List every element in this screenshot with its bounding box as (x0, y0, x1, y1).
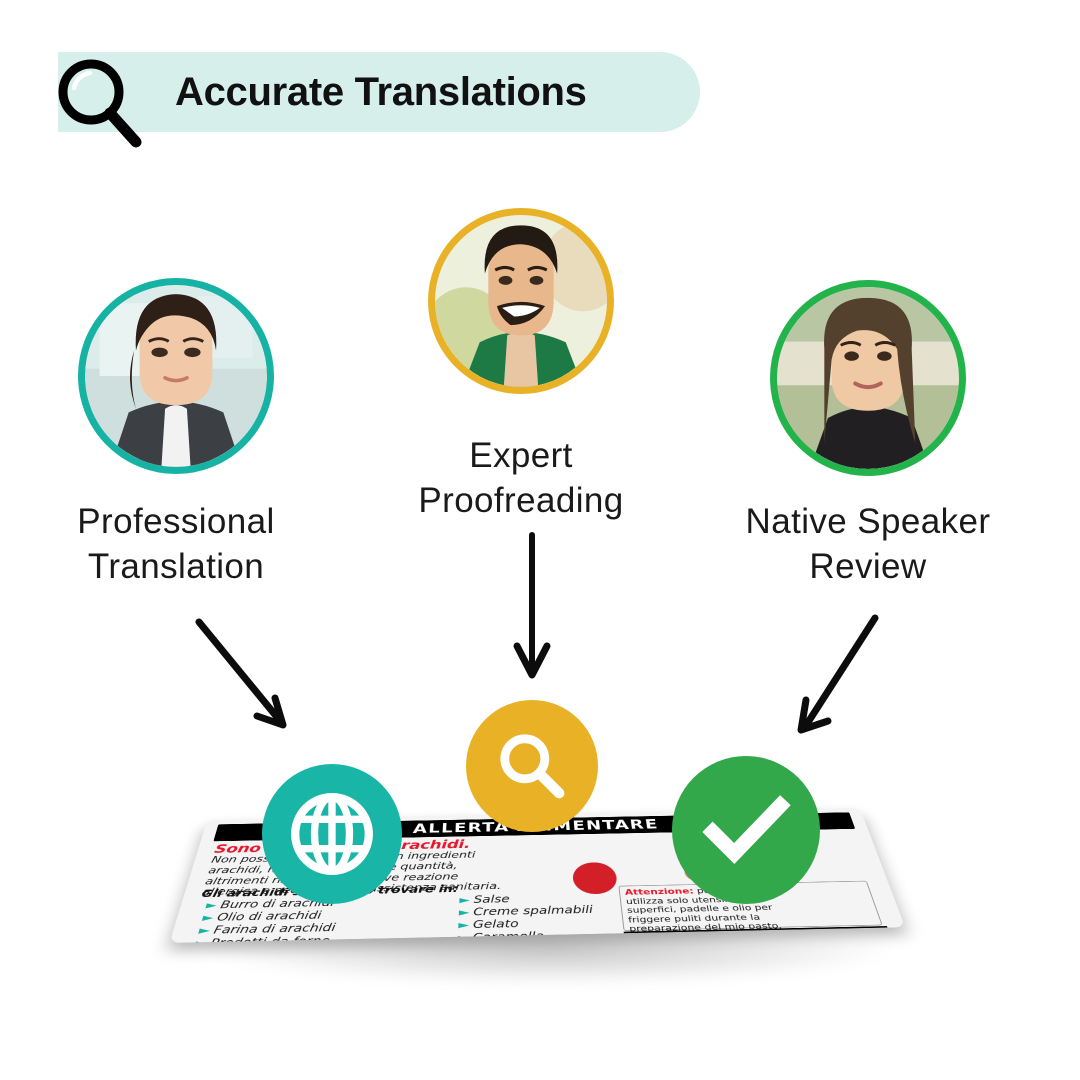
list-item-label: Gelato (473, 918, 519, 931)
triangle-bullet-icon: ► (459, 894, 470, 906)
check-badge[interactable] (672, 756, 820, 904)
search-badge[interactable] (466, 700, 598, 832)
globe-badge[interactable] (262, 764, 402, 904)
arrow-left (199, 622, 283, 725)
card-items-left: ►Burro di arachidi ►Olio di arachidi ►Fa… (193, 897, 340, 943)
list-item-label: Creme spalmabili (473, 904, 593, 918)
search-icon (492, 726, 572, 806)
triangle-bullet-icon: ► (201, 912, 215, 924)
arrow-middle (517, 535, 547, 675)
triangle-bullet-icon: ► (459, 907, 470, 919)
triangle-bullet-icon: ► (458, 919, 469, 931)
triangle-bullet-icon: ► (205, 900, 219, 912)
globe-icon (286, 788, 378, 880)
checkmark-icon (697, 781, 795, 879)
arrow-right (801, 618, 875, 730)
list-item-label: Salse (474, 894, 510, 906)
triangle-bullet-icon: ► (197, 925, 211, 937)
